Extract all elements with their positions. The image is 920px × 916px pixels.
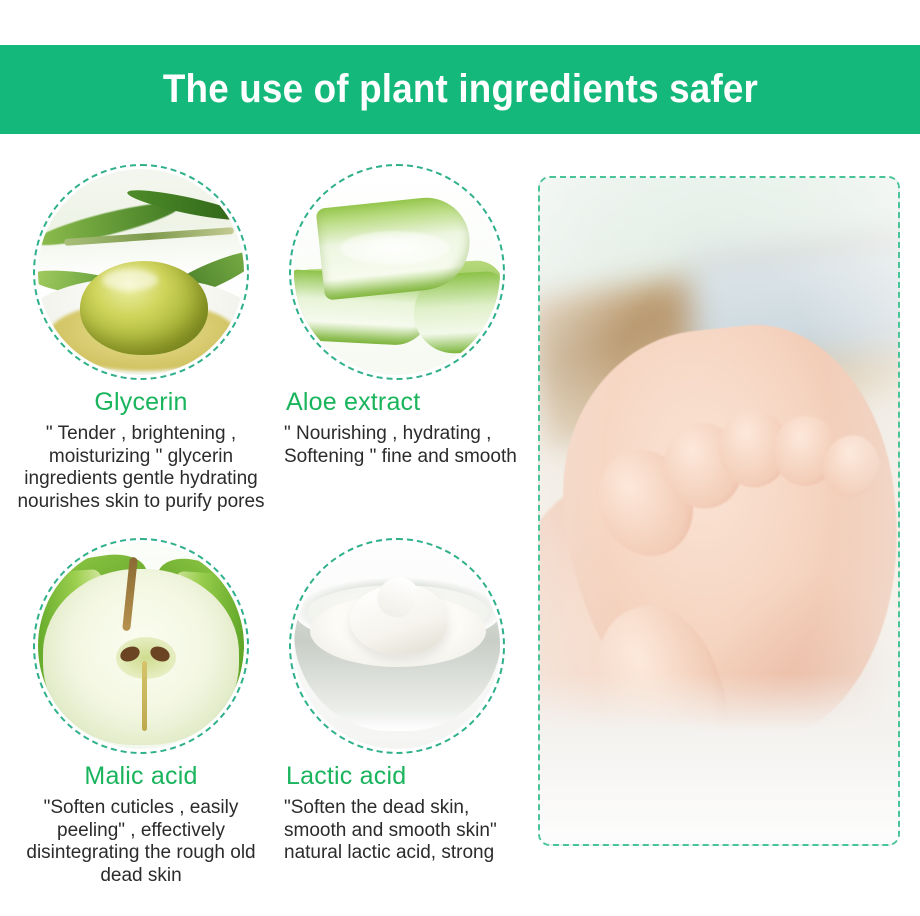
- dashed-circle-border: [33, 538, 249, 754]
- ingredient-name-lactic-acid: Lactic acid: [268, 762, 526, 791]
- dashed-circle-border: [289, 538, 505, 754]
- dashed-circle-border: [289, 164, 505, 380]
- ingredient-name-malic-acid: Malic acid: [12, 762, 270, 791]
- feet-photo-panel: [538, 176, 900, 846]
- ingredient-image-glycerin: [33, 164, 249, 380]
- ingredient-description-glycerin: " Tender , brightening , moisturizing " …: [12, 423, 270, 513]
- ingredient-card-glycerin: Glycerin " Tender , brightening , moistu…: [12, 164, 270, 513]
- ingredient-name-glycerin: Glycerin: [12, 388, 270, 417]
- ingredient-card-malic-acid: Malic acid "Soften cuticles , easily pee…: [12, 538, 270, 887]
- ingredient-grid: Glycerin " Tender , brightening , moistu…: [0, 150, 525, 916]
- ingredient-description-malic-acid: "Soften cuticles , easily peeling" , eff…: [12, 797, 270, 887]
- ingredient-image-malic-acid: [33, 538, 249, 754]
- ingredient-description-aloe-extract: " Nourishing , hydrating , Softening " f…: [268, 423, 526, 468]
- ingredient-description-lactic-acid: "Soften the dead skin, smooth and smooth…: [268, 797, 526, 865]
- photo-background-bottom: [540, 674, 898, 844]
- ingredient-card-lactic-acid: Lactic acid "Soften the dead skin, smoot…: [268, 538, 526, 865]
- ingredient-card-aloe-extract: Aloe extract " Nourishing , hydrating , …: [268, 164, 526, 468]
- ingredient-image-aloe-extract: [289, 164, 505, 380]
- header-banner: The use of plant ingredients safer: [0, 45, 920, 134]
- ingredient-name-aloe-extract: Aloe extract: [268, 388, 526, 417]
- product-infographic-page: The use of plant ingredients safer Glyce…: [0, 0, 920, 916]
- page-title: The use of plant ingredients safer: [162, 67, 757, 112]
- ingredient-image-lactic-acid: [289, 538, 505, 754]
- dashed-circle-border: [33, 164, 249, 380]
